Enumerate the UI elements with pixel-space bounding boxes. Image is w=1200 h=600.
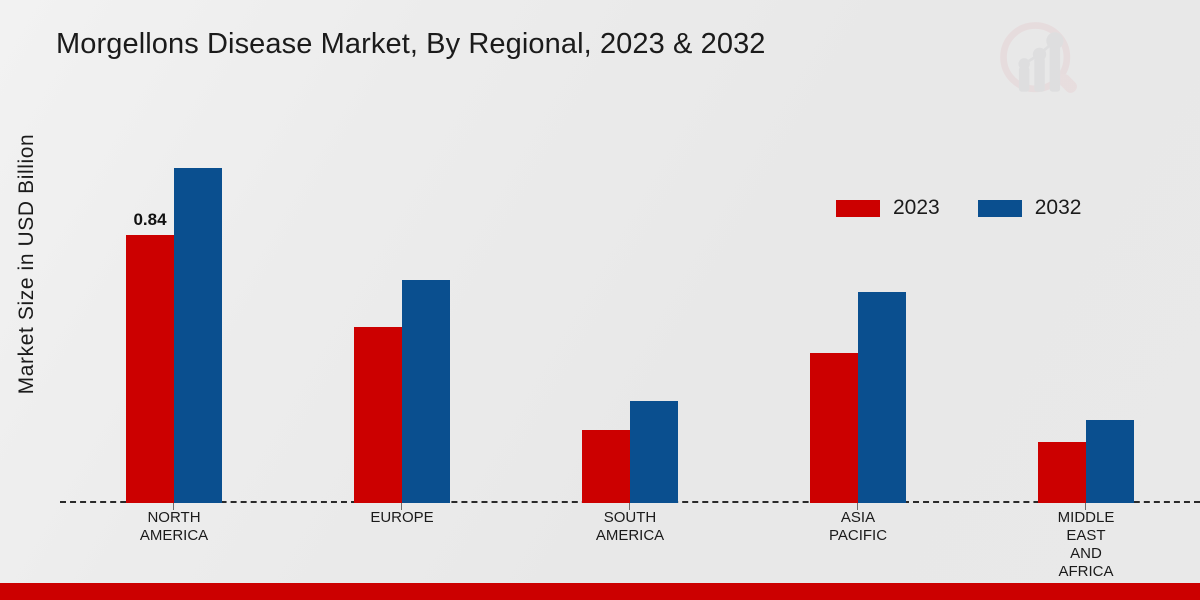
- watermark-logo: [992, 14, 1088, 110]
- bar-2032[interactable]: [402, 280, 450, 503]
- bar-2023[interactable]: [1038, 442, 1086, 503]
- chart-title: Morgellons Disease Market, By Regional, …: [56, 28, 766, 61]
- x-axis-label: SOUTH AMERICA: [516, 509, 744, 545]
- footer-accent-bar: [0, 583, 1200, 600]
- bar-2023[interactable]: [582, 430, 630, 503]
- x-axis-label: NORTH AMERICA: [60, 509, 288, 545]
- x-axis-label: MIDDLE EAST AND AFRICA: [972, 509, 1200, 581]
- y-axis-title: Market Size in USD Billion: [15, 94, 39, 434]
- bar-group: [972, 120, 1200, 503]
- x-axis-label: EUROPE: [288, 509, 516, 527]
- x-axis-labels: NORTH AMERICAEUROPESOUTH AMERICAASIA PAC…: [60, 509, 1200, 589]
- bar-group: 0.84: [60, 120, 288, 503]
- bar-2023[interactable]: [810, 353, 858, 503]
- bar-2023[interactable]: [354, 327, 402, 503]
- bar-group: [288, 120, 516, 503]
- bar-2032[interactable]: [858, 292, 906, 503]
- bar-2023[interactable]: 0.84: [126, 235, 174, 503]
- plot-area: 0.84: [60, 120, 1200, 503]
- x-axis-label: ASIA PACIFIC: [744, 509, 972, 545]
- chart-container: Morgellons Disease Market, By Regional, …: [0, 0, 1200, 600]
- bar-2032[interactable]: [630, 401, 678, 503]
- bar-group: [744, 120, 972, 503]
- bar-2032[interactable]: [1086, 420, 1134, 503]
- bar-group: [516, 120, 744, 503]
- bar-value-label: 0.84: [133, 210, 166, 230]
- bar-2032[interactable]: [174, 168, 222, 503]
